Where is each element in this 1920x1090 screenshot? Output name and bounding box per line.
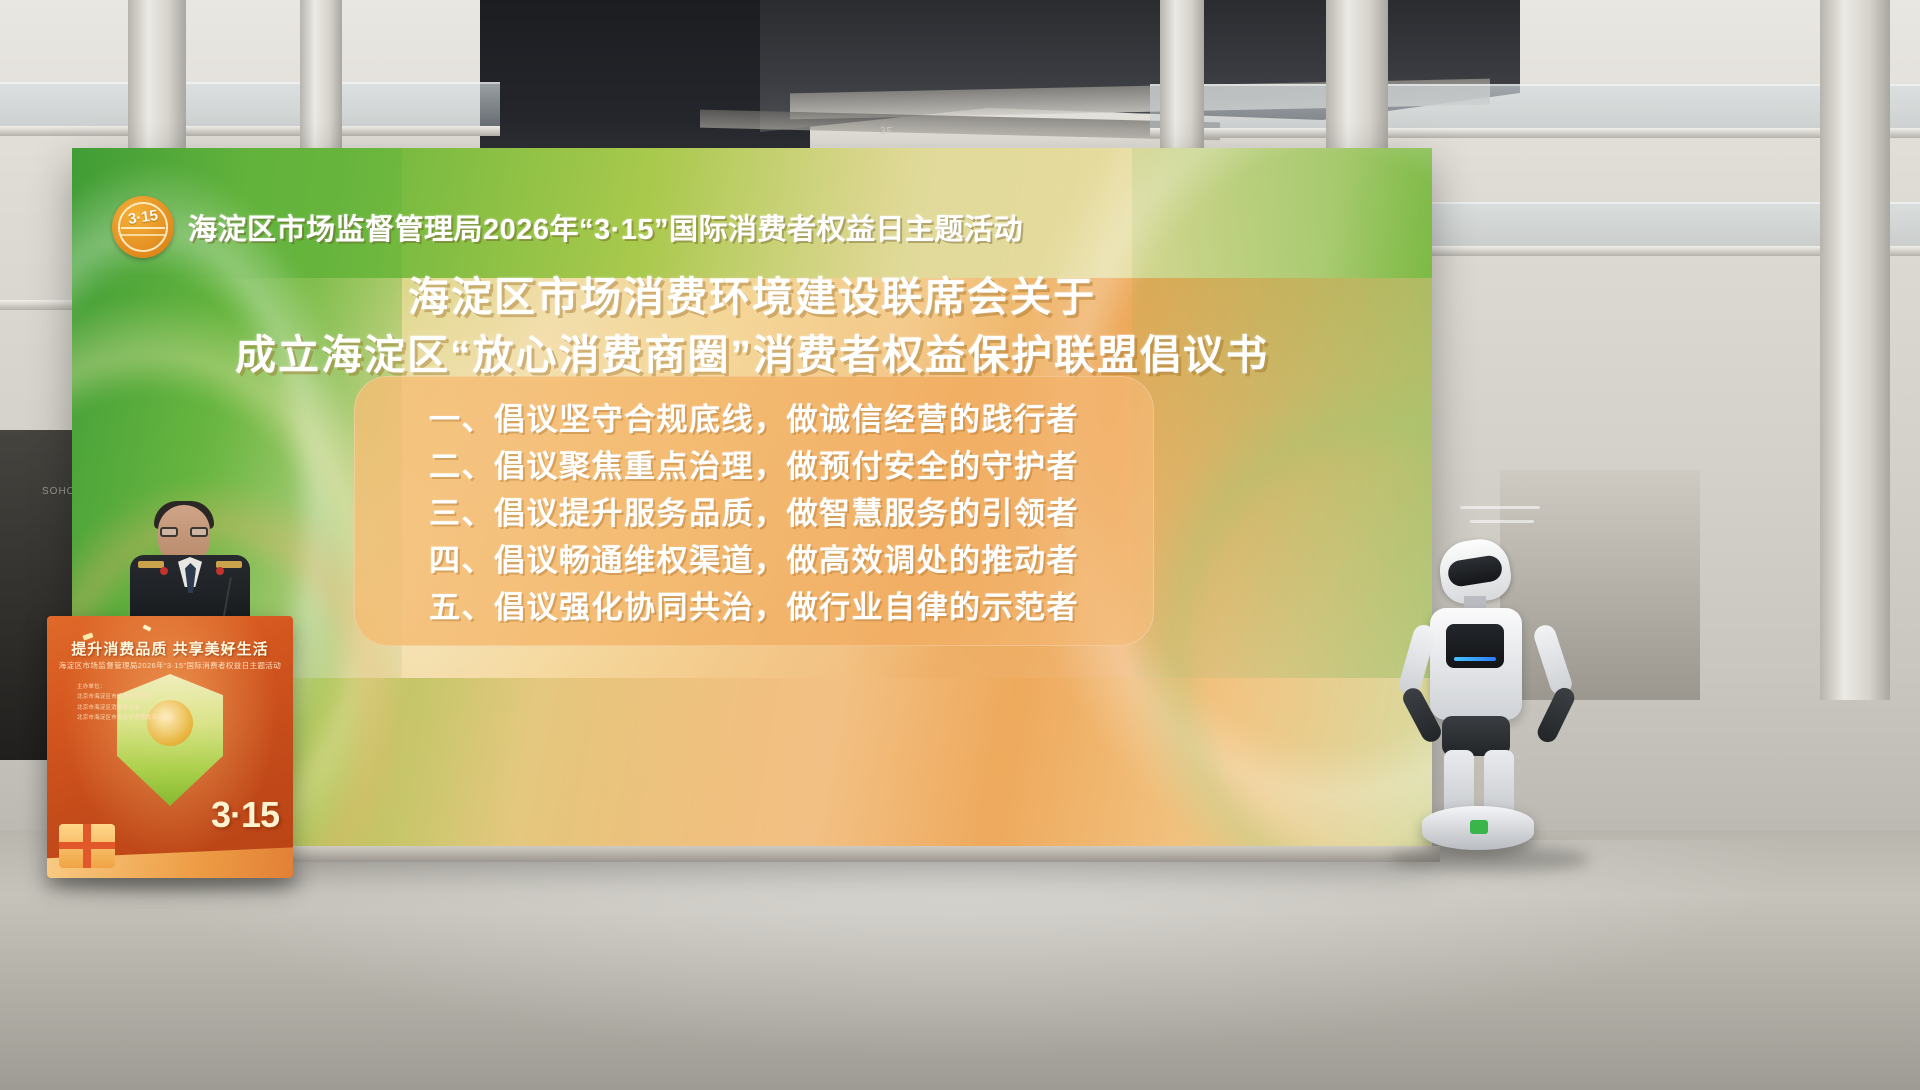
proposal-item: 三、倡议提升服务品质，做智慧服务的引领者	[354, 490, 1154, 537]
proposal-item: 四、倡议畅通维权渠道，做高效调处的推动者	[354, 537, 1154, 584]
consumer-rights-emblem-icon: 3·15	[112, 196, 174, 258]
balcony-glass-railing-right	[1150, 84, 1920, 130]
proposal-item: 一、倡议坚守合规底线，做诚信经营的践行者	[354, 396, 1154, 443]
emblem-label: 3·15	[108, 182, 178, 252]
balcony-glass-railing-left	[0, 82, 500, 128]
proposal-item: 二、倡议聚焦重点治理，做预付安全的守护者	[354, 443, 1154, 490]
balcony-edge-left	[0, 126, 500, 136]
robot-visor-icon	[1446, 554, 1503, 588]
podium-subtitle: 海淀区市场监督管理局2026年“3·15”国际消费者权益日主题活动	[47, 660, 293, 671]
robot-chest-display	[1446, 624, 1504, 668]
pillar-far-right	[1820, 0, 1890, 700]
event-header-title: 海淀区市场监督管理局2026年“3·15”国际消费者权益日主题活动	[188, 206, 1023, 248]
humanoid-robot	[1388, 540, 1578, 860]
proposal-item: 五、倡议强化协同共治，做行业自律的示范者	[354, 584, 1154, 631]
robot-torso	[1430, 608, 1522, 720]
backdrop-main-title: 海淀区市场消费环境建设联席会关于 成立海淀区“放心消费商圈”消费者权益保护联盟倡…	[72, 268, 1432, 384]
balcony-edge-right	[1150, 128, 1920, 138]
podium-slogan: 提升消费品质 共享美好生活	[47, 638, 293, 659]
podium-organizers-label: 主办单位：	[77, 682, 174, 692]
photo-scene: 3F SOHO 3·15 海淀区市场监督管理局2026年“3·15”国际消费者权…	[0, 0, 1920, 1090]
gift-box-icon	[59, 824, 115, 868]
podium-organizer-item: 北京市海淀区市场监督管理局	[77, 692, 174, 702]
main-title-line-1: 海淀区市场消费环境建设联席会关于	[72, 268, 1432, 326]
robot-mobile-base	[1422, 806, 1534, 850]
podium-front-panel: 提升消费品质 共享美好生活 海淀区市场监督管理局2026年“3·15”国际消费者…	[47, 616, 293, 878]
speaker-epaulette-left	[138, 561, 164, 568]
backdrop-header: 3·15 海淀区市场监督管理局2026年“3·15”国际消费者权益日主题活动	[112, 196, 1023, 258]
mall-sign-soho: SOHO	[42, 486, 75, 497]
podium-organizers: 主办单位： 北京市海淀区市场监督管理局 北京市海淀区消费者协会 北京市海淀区市场…	[77, 682, 174, 724]
podium-organizer-item: 北京市海淀区消费者协会	[77, 703, 174, 713]
speaker-glasses-icon	[160, 527, 208, 537]
podium-315-badge: 3·15	[211, 794, 279, 836]
mall-sign-3f: 3F	[880, 126, 894, 137]
speaker-badge-right	[216, 567, 224, 575]
proposal-item-list: 一、倡议坚守合规底线，做诚信经营的践行者 二、倡议聚焦重点治理，做预付安全的守护…	[354, 380, 1154, 632]
robot-forearm-right	[1534, 685, 1577, 746]
podium-organizer-item: 北京市海淀区市场监督管理局海淀分局	[77, 713, 174, 723]
main-title-line-2: 成立海淀区“放心消费商圈”消费者权益保护联盟倡议书	[72, 326, 1432, 384]
ceiling-light-strip-a	[1460, 506, 1540, 509]
robot-upper-arm-right	[1531, 622, 1574, 697]
ceiling-light-strip-b	[1470, 520, 1534, 523]
speaker-badge-left	[160, 567, 168, 575]
